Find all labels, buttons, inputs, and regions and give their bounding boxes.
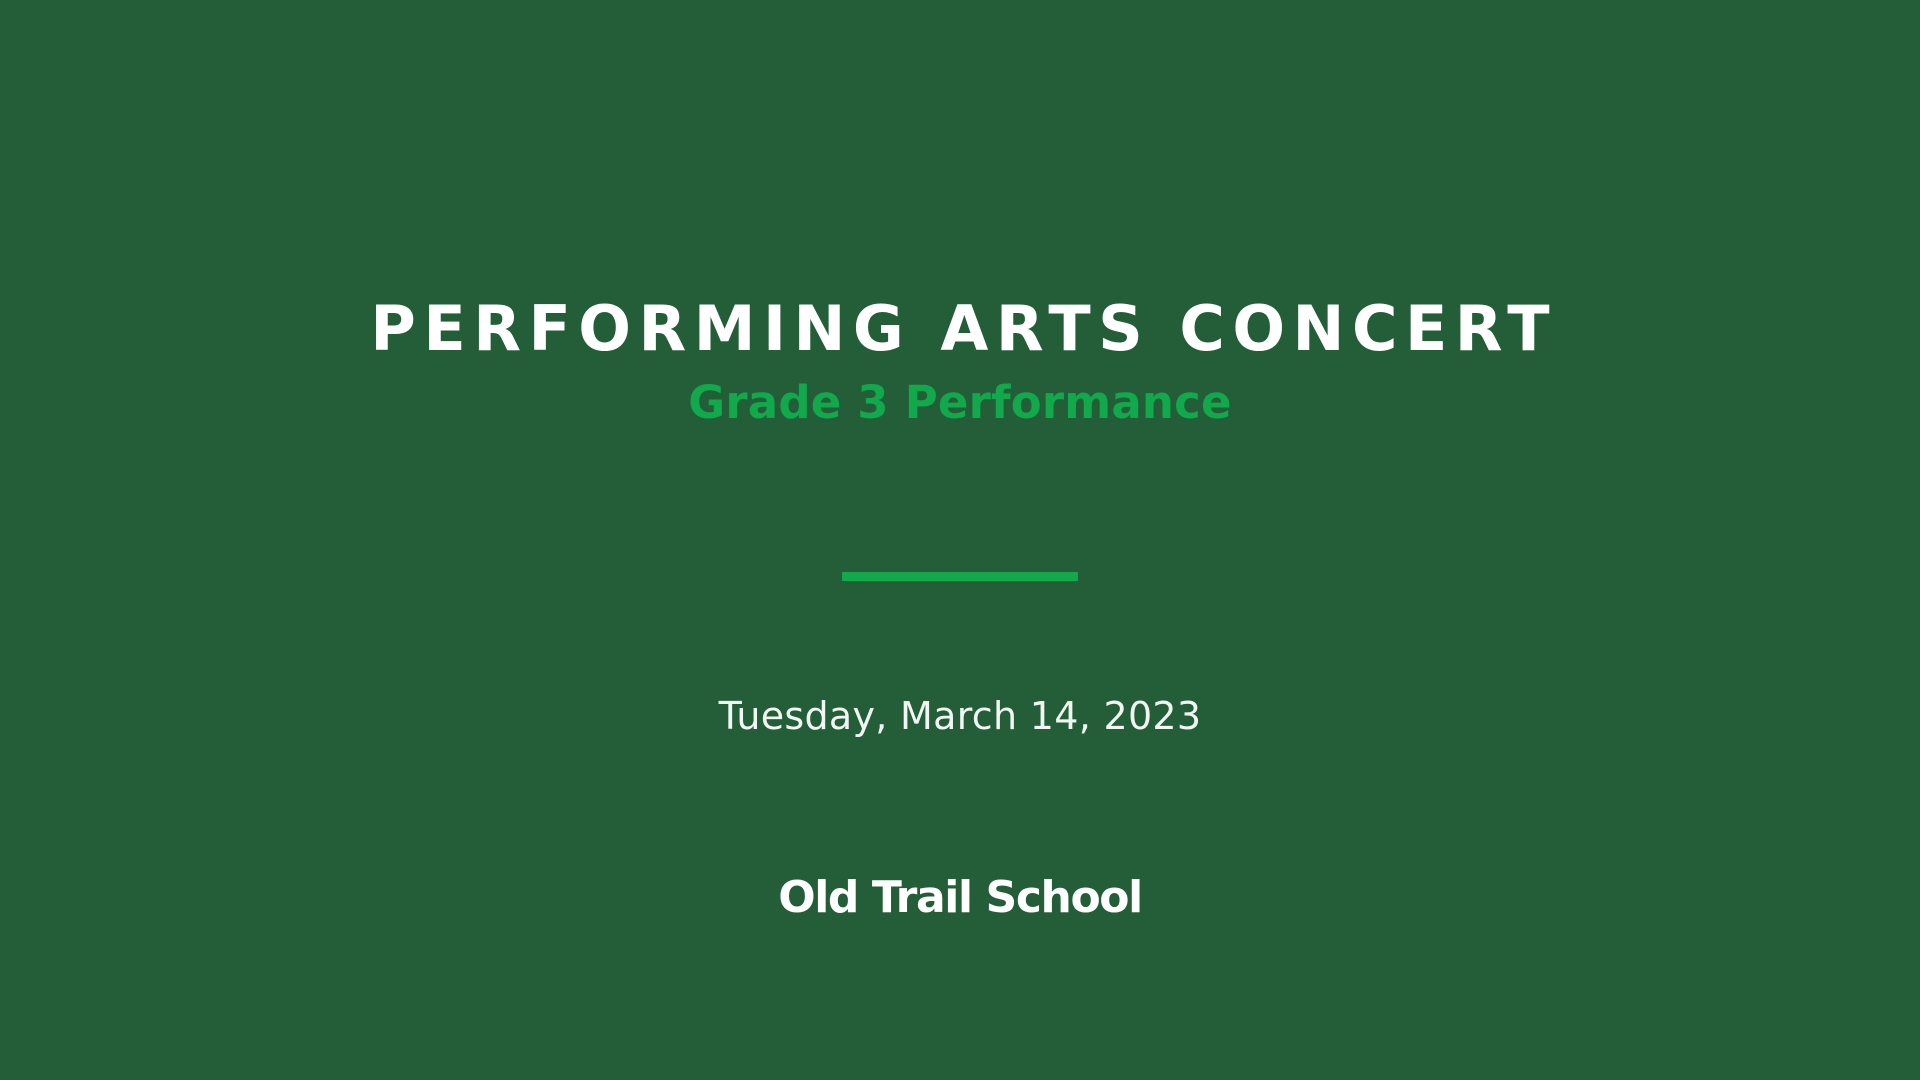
- divider-rule: [842, 572, 1078, 581]
- logo-container: Old Trail School: [0, 872, 1920, 923]
- page-title: PERFORMING ARTS CONCERT: [0, 296, 1920, 361]
- title-slide: PERFORMING ARTS CONCERT Grade 3 Performa…: [0, 0, 1920, 1080]
- date-container: Tuesday, March 14, 2023: [0, 694, 1920, 738]
- school-logo-wordmark: Old Trail School: [778, 872, 1142, 923]
- page-subtitle: Grade 3 Performance: [0, 377, 1920, 429]
- title-block: PERFORMING ARTS CONCERT Grade 3 Performa…: [0, 296, 1920, 429]
- divider-container: [0, 572, 1920, 581]
- event-date: Tuesday, March 14, 2023: [0, 694, 1920, 738]
